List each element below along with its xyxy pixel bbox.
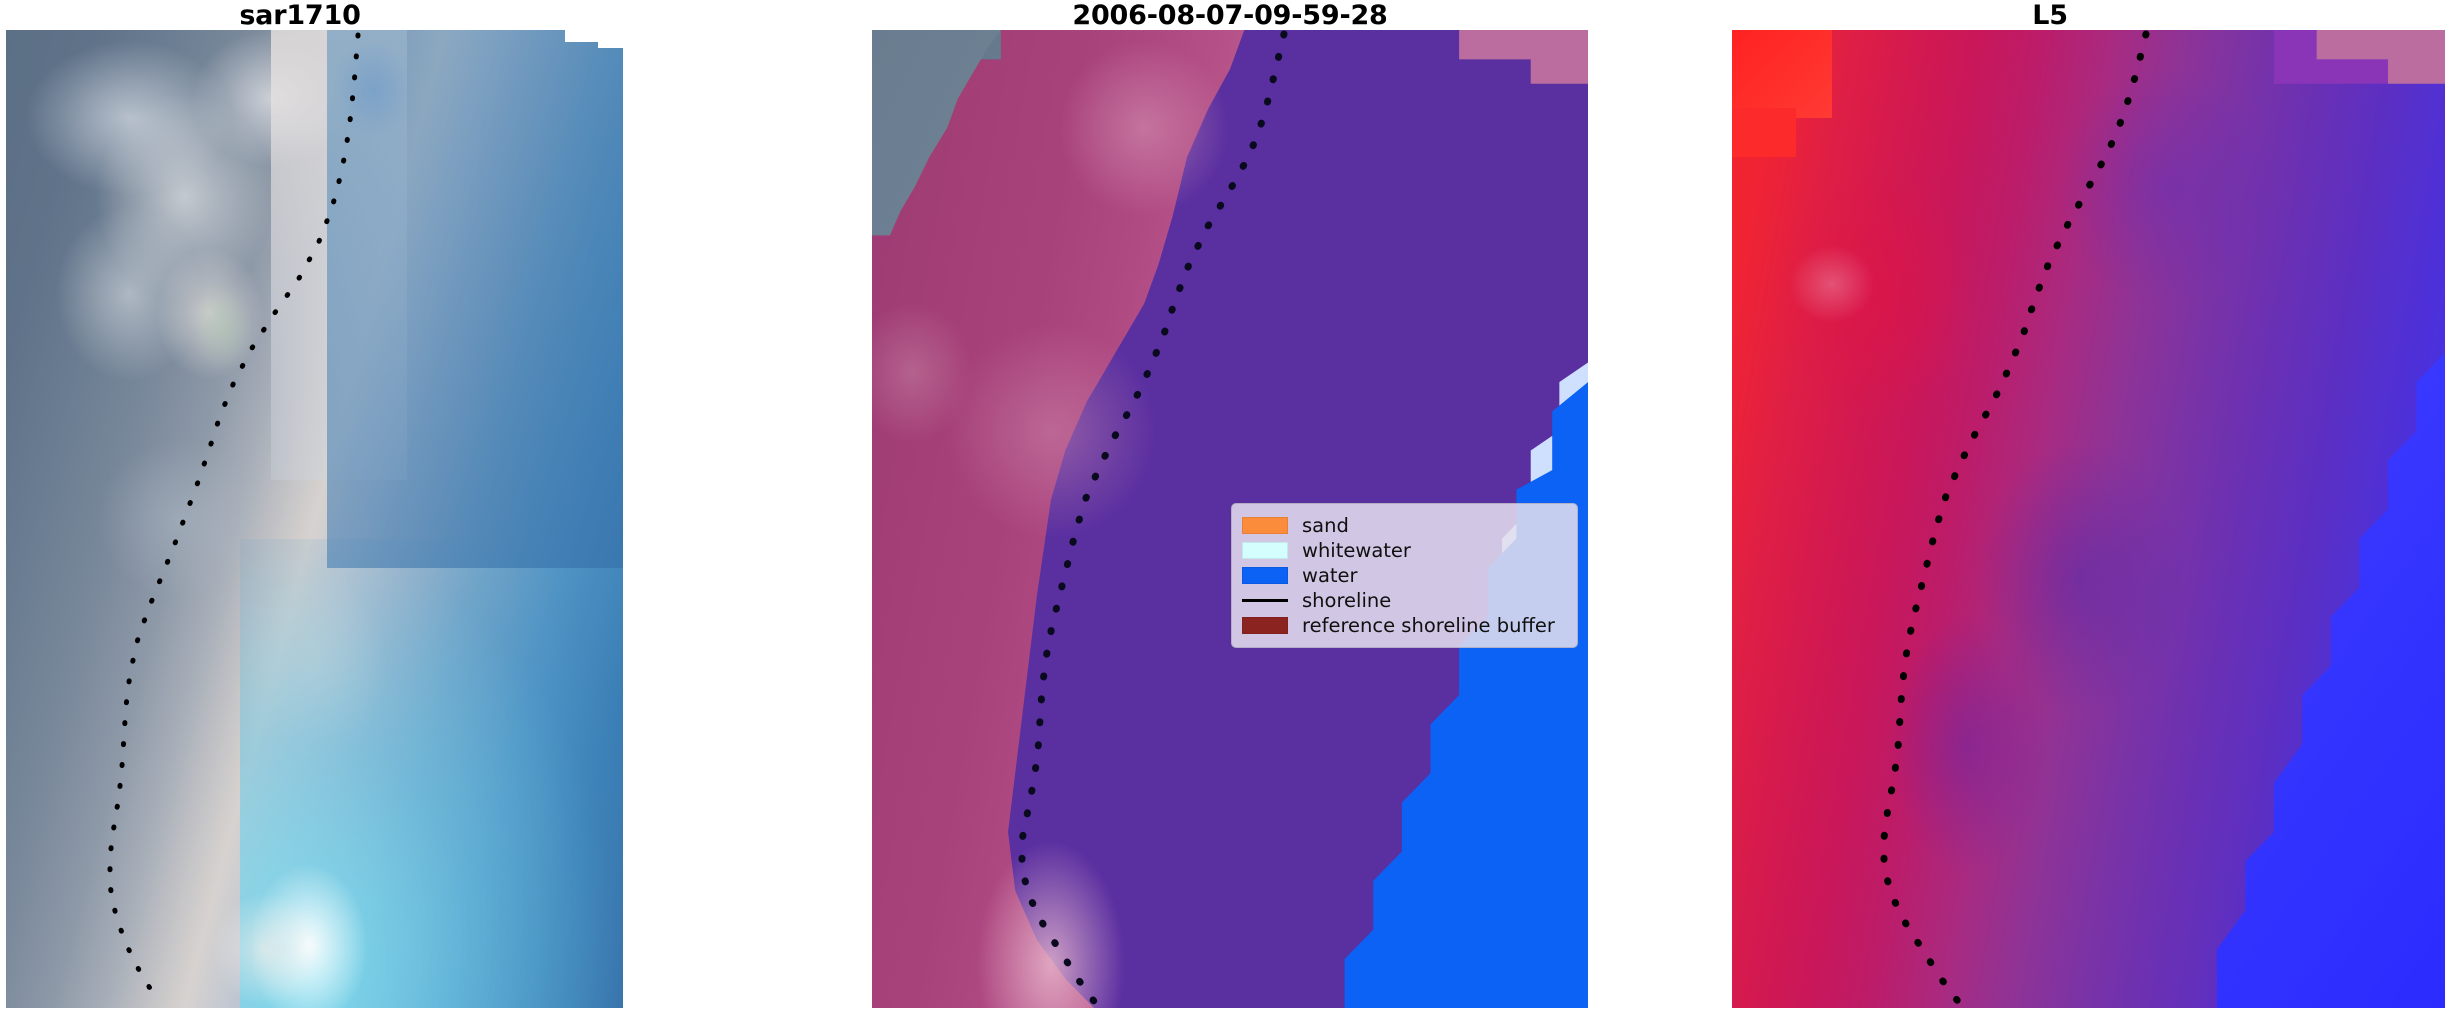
pale-patch [1789, 245, 1875, 323]
panel-title-sar1710: sar1710 [0, 2, 820, 30]
panel-sar1710: sar1710 [0, 0, 820, 1021]
panel-classification: 2006-08-07-09-59-28 sand [820, 0, 1640, 1021]
legend-item-whitewater: whitewater [1242, 538, 1565, 563]
map-legend[interactable]: sand whitewater water shoreline referenc… [1231, 503, 1578, 648]
transition-highlight-low [1889, 617, 2046, 871]
l5-false-colour-raster [1732, 30, 2445, 1008]
water-swatch [1242, 567, 1288, 584]
legend-item-sand: sand [1242, 513, 1565, 538]
bright-red-corner [1732, 30, 1832, 118]
reference-buffer-swatch [1242, 617, 1288, 634]
legend-label-reference-buffer: reference shoreline buffer [1302, 613, 1555, 638]
sand-swatch [1242, 517, 1288, 534]
legend-label-shoreline: shoreline [1302, 588, 1391, 613]
bright-red-step [1732, 108, 1796, 157]
nodata-corner-mask [6, 30, 623, 1008]
legend-label-water: water [1302, 563, 1358, 588]
transition-highlight-top [2060, 69, 2274, 304]
shoreline-line-swatch [1242, 599, 1288, 602]
panel-title-date: 2006-08-07-09-59-28 [820, 2, 1640, 30]
whitewater-swatch [1242, 542, 1288, 559]
legend-label-sand: sand [1302, 513, 1349, 538]
legend-label-whitewater: whitewater [1302, 538, 1411, 563]
panel-title-l5: L5 [1640, 2, 2460, 30]
sar-rgb-raster [6, 30, 623, 1008]
legend-item-water: water [1242, 563, 1565, 588]
figure-canvas: sar1710 [0, 0, 2460, 1021]
legend-item-reference-buffer: reference shoreline buffer [1242, 613, 1565, 638]
legend-item-shoreline: shoreline [1242, 588, 1565, 613]
panel-l5: L5 [1640, 0, 2460, 1021]
